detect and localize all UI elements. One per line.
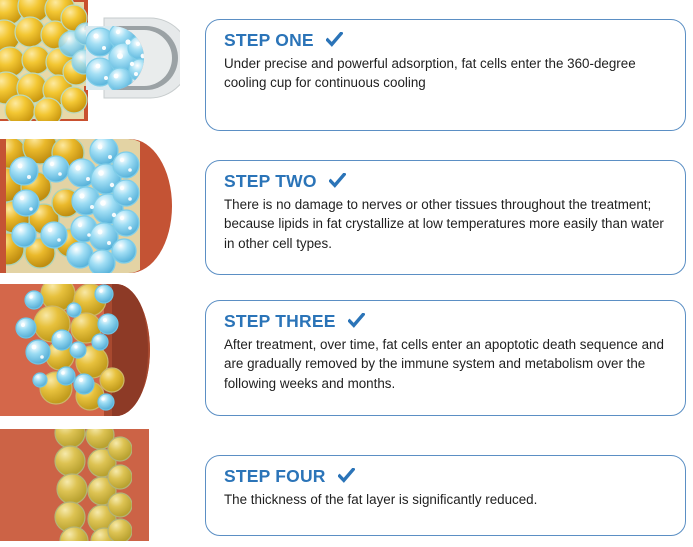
step-two-body: There is no damage to nerves or other ti…: [224, 195, 669, 253]
apoptotic-fat-cells-removal-illustration: [0, 284, 160, 416]
step-three-title: STEP THREE: [224, 310, 669, 333]
step-two-title: STEP TWO: [224, 170, 669, 193]
step-two-illustration: [0, 139, 172, 273]
check-icon: [348, 311, 365, 333]
step-two-title-text: STEP TWO: [224, 171, 317, 191]
step-four-body: The thickness of the fat layer is signif…: [224, 490, 669, 509]
check-icon: [338, 466, 355, 488]
step-four-title-text: STEP FOUR: [224, 466, 326, 486]
check-icon: [329, 171, 346, 193]
step-two-card: STEP TWO There is no damage to nerves or…: [205, 160, 686, 275]
step-one-illustration: [0, 0, 180, 121]
step-four-title: STEP FOUR: [224, 465, 669, 488]
step-one-title: STEP ONE: [224, 29, 669, 52]
step-one-title-text: STEP ONE: [224, 30, 314, 50]
reduced-fat-layer-illustration: [0, 429, 149, 541]
check-icon: [326, 30, 343, 52]
step-four-card: STEP FOUR The thickness of the fat layer…: [205, 455, 686, 536]
step-three-body: After treatment, over time, fat cells en…: [224, 335, 669, 393]
crystallizing-fat-cells-illustration: [0, 139, 172, 273]
step-four-illustration: [0, 429, 149, 541]
step-three-title-text: STEP THREE: [224, 311, 336, 331]
fat-cells-entering-cooling-cup-illustration: [0, 0, 180, 121]
step-three-illustration: [0, 284, 160, 416]
step-one-card: STEP ONE Under precise and powerful adso…: [205, 19, 686, 131]
step-three-card: STEP THREE After treatment, over time, f…: [205, 300, 686, 416]
step-one-body: Under precise and powerful adsorption, f…: [224, 54, 669, 93]
